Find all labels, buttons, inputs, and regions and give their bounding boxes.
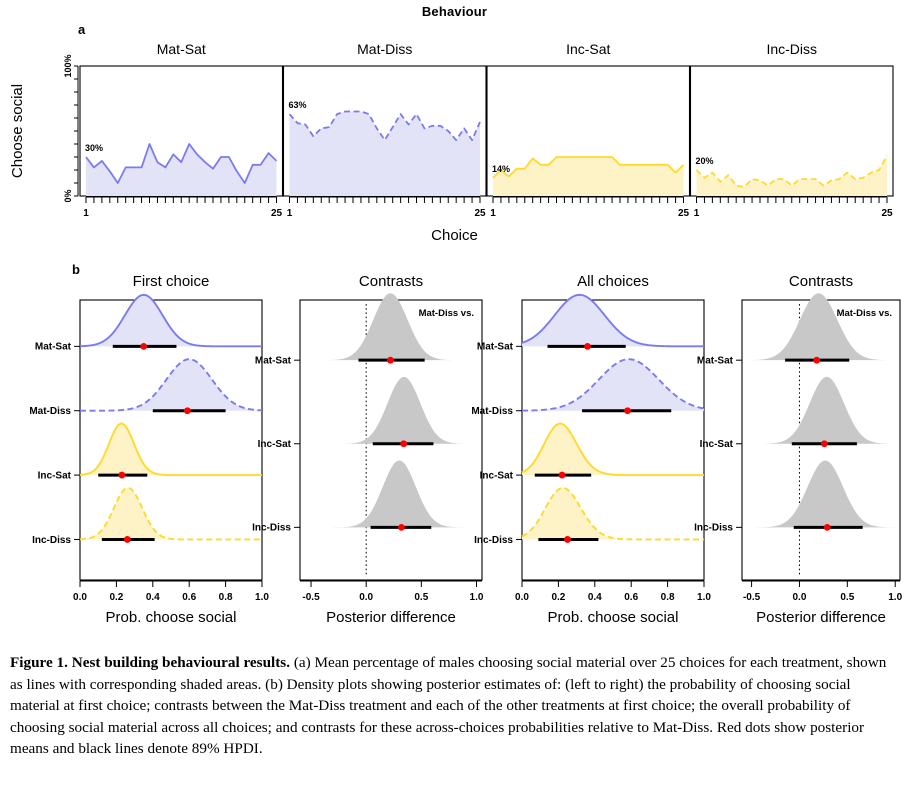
posterior-mean-dot-inc-diss <box>564 536 571 543</box>
density-area-inc-sat <box>742 377 900 444</box>
panel-a-letter: a <box>78 22 85 37</box>
subplot-xlabel-b1-first-choice: Prob. choose social <box>106 609 237 626</box>
row-label-mat-diss: Mat-Diss <box>471 406 513 417</box>
panel-a-ytick-0: 0% <box>63 189 73 202</box>
subplot-xtick-label: 1.0 <box>255 592 269 603</box>
panel-a-facet-mat-diss <box>284 66 487 203</box>
subplot-xtick-label: -0.5 <box>743 592 761 603</box>
subplot-xtick-label: 0.8 <box>219 592 233 603</box>
facet-area <box>697 156 888 196</box>
density-area-inc-diss <box>80 488 262 540</box>
posterior-mean-dot-mat-sat <box>813 357 820 364</box>
panel-a-xtick-first: 1 <box>694 208 700 219</box>
subplot-b4-contrasts-all <box>736 293 900 587</box>
row-label-inc-diss: Inc-Diss <box>474 535 513 546</box>
panel-a-facet-inc-diss <box>691 66 894 203</box>
posterior-mean-dot-inc-sat <box>118 472 125 479</box>
subplot-xtick-label: 0.4 <box>588 592 602 603</box>
panel-a-xtick-last: 25 <box>474 208 486 219</box>
density-area-inc-diss <box>300 460 482 527</box>
subplot-xtick-label: 0.5 <box>414 592 428 603</box>
panel-a-behaviour: Behaviour a Choose social100%0%Mat-Sat30… <box>0 0 909 250</box>
posterior-mean-dot-inc-diss <box>398 524 405 531</box>
panel-b-canvas: First choiceMat-SatMat-DissInc-SatInc-Di… <box>0 250 909 650</box>
subplot-xtick-label: 0.0 <box>515 592 529 603</box>
panel-a-ylabel: Choose social <box>9 84 26 178</box>
posterior-mean-dot-mat-diss <box>624 407 631 414</box>
density-area-mat-sat <box>300 293 482 360</box>
density-area-inc-sat <box>300 377 482 444</box>
row-label-mat-sat: Mat-Sat <box>35 342 72 353</box>
facet-title-mat-sat: Mat-Sat <box>157 41 206 57</box>
contrast-note-label: Mat-Diss vs. <box>419 308 474 319</box>
panel-a-canvas: Choose social100%0%Mat-Sat30%125Mat-Diss… <box>0 0 909 250</box>
row-label-inc-diss: Inc-Diss <box>252 523 291 534</box>
facet-frame <box>691 66 894 196</box>
subplot-xtick-label: 0.5 <box>840 592 854 603</box>
subplot-b1-first-choice <box>74 295 262 587</box>
panel-a-xtick-first: 1 <box>287 208 293 219</box>
subplot-xtick-label: 0.0 <box>359 592 373 603</box>
facet-first-value-label: 63% <box>289 100 307 110</box>
row-label-inc-sat: Inc-Sat <box>38 470 72 481</box>
row-label-inc-diss: Inc-Diss <box>32 535 71 546</box>
panel-b-letter: b <box>72 262 80 277</box>
posterior-mean-dot-mat-sat <box>140 343 147 350</box>
facet-title-inc-diss: Inc-Diss <box>766 41 817 57</box>
row-label-mat-diss: Mat-Diss <box>29 406 71 417</box>
subplot-xtick-label: 0.8 <box>661 592 675 603</box>
subplot-b2-contrasts-first <box>294 293 482 587</box>
panel-a-xtick-last: 25 <box>271 208 283 219</box>
posterior-mean-dot-mat-sat <box>584 343 591 350</box>
subplot-xtick-label: 0.2 <box>109 592 123 603</box>
facet-title-inc-sat: Inc-Sat <box>566 41 610 57</box>
facet-area <box>290 112 481 197</box>
panel-a-facet-mat-sat <box>80 66 283 203</box>
density-area-inc-sat <box>522 424 704 475</box>
posterior-mean-dot-inc-sat <box>559 472 566 479</box>
subplot-xtick-label: 0.0 <box>73 592 87 603</box>
subplot-title-b3-all-choices: All choices <box>577 273 649 290</box>
subplot-xtick-label: 1.0 <box>697 592 711 603</box>
density-area-inc-diss <box>742 460 900 527</box>
row-label-mat-sat: Mat-Sat <box>255 356 292 367</box>
figure-1: Behaviour a Choose social100%0%Mat-Sat30… <box>0 0 909 793</box>
panel-a-xtick-first: 1 <box>83 208 89 219</box>
subplot-xtick-label: 0.4 <box>146 592 160 603</box>
row-label-inc-diss: Inc-Diss <box>694 523 733 534</box>
panel-a-facet-inc-sat <box>487 66 690 203</box>
subplot-xtick-label: 1.0 <box>470 592 484 603</box>
panel-a-xtick-last: 25 <box>881 208 893 219</box>
subplot-title-b2-contrasts-first: Contrasts <box>359 273 423 290</box>
row-label-mat-sat: Mat-Sat <box>477 342 514 353</box>
subplot-xtick-label: 1.0 <box>888 592 902 603</box>
row-label-inc-sat: Inc-Sat <box>480 470 514 481</box>
panel-a-xtick-last: 25 <box>678 208 690 219</box>
contrast-note-label: Mat-Diss vs. <box>837 308 892 319</box>
panel-a-xtick-first: 1 <box>490 208 496 219</box>
facet-title-mat-diss: Mat-Diss <box>357 41 412 57</box>
facet-first-value-label: 20% <box>696 156 714 166</box>
facet-area <box>493 157 684 196</box>
subplot-xtick-label: 0.2 <box>551 592 565 603</box>
posterior-mean-dot-inc-sat <box>821 440 828 447</box>
panel-a-xlabel: Choice <box>431 227 478 244</box>
posterior-mean-dot-inc-diss <box>124 536 131 543</box>
subplot-xtick-label: 0.6 <box>624 592 638 603</box>
subplot-xlabel-b4-contrasts-all: Posterior difference <box>756 609 886 626</box>
subplot-xlabel-b2-contrasts-first: Posterior difference <box>326 609 456 626</box>
facet-area <box>86 144 277 196</box>
subplot-xtick-label: 0.0 <box>793 592 807 603</box>
subplot-xlabel-b3-all-choices: Prob. choose social <box>548 609 679 626</box>
row-label-inc-sat: Inc-Sat <box>700 439 734 450</box>
row-label-inc-sat: Inc-Sat <box>258 439 292 450</box>
posterior-mean-dot-inc-sat <box>400 440 407 447</box>
subplot-xtick-label: 0.6 <box>182 592 196 603</box>
posterior-mean-dot-mat-sat <box>387 357 394 364</box>
figure-title: Behaviour <box>0 4 909 19</box>
row-label-mat-sat: Mat-Sat <box>697 356 734 367</box>
figure-caption: Figure 1. Nest building behavioural resu… <box>10 652 900 760</box>
subplot-title-b4-contrasts-all: Contrasts <box>789 273 853 290</box>
subplot-title-b1-first-choice: First choice <box>133 273 210 290</box>
density-area-inc-diss <box>522 488 704 540</box>
subplot-b3-all-choices <box>516 295 704 587</box>
panel-a-ytick-100: 100% <box>63 54 73 77</box>
facet-first-value-label: 14% <box>492 164 510 174</box>
posterior-mean-dot-mat-diss <box>184 407 191 414</box>
facet-first-value-label: 30% <box>85 143 103 153</box>
posterior-mean-dot-inc-diss <box>824 524 831 531</box>
subplot-xtick-label: -0.5 <box>302 592 320 603</box>
density-area-mat-sat <box>742 293 900 360</box>
panel-b-posteriors: b First choiceMat-SatMat-DissInc-SatInc-… <box>0 250 909 650</box>
caption-bold-lead: Figure 1. Nest building behavioural resu… <box>10 654 290 671</box>
